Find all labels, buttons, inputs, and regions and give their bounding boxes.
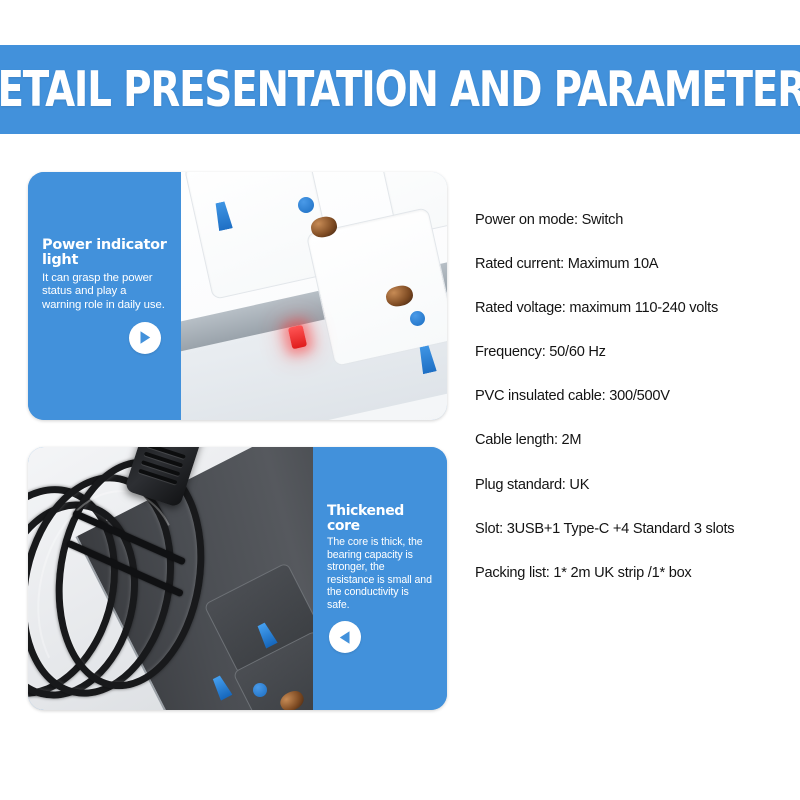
spec-plug-standard: Plug standard: UK	[475, 477, 793, 495]
spec-frequency: Frequency: 50/60 Hz	[475, 344, 793, 362]
spec-cable-length: Cable length: 2M	[475, 432, 793, 450]
page-title: DETAIL PRESENTATION AND PARAMETERS	[0, 61, 800, 117]
spec-packing-list: Packing list: 1* 2m UK strip /1* box	[475, 565, 793, 583]
feature-card-thickened-core[interactable]: Thickened core The core is thick, the be…	[28, 447, 447, 710]
spec-rated-current: Rated current: Maximum 10A	[475, 256, 793, 274]
feature-title: Thickened core	[327, 504, 433, 534]
spec-slot: Slot: 3USB+1 Type-C +4 Standard 3 slots	[475, 521, 793, 539]
feature-panel-power-indicator-light: Power indicator light It can grasp the p…	[28, 172, 181, 420]
feature-description: The core is thick, the bearing capacity …	[327, 536, 433, 611]
play-right-icon[interactable]	[129, 322, 161, 354]
feature-card-power-indicator-light[interactable]: Power indicator light It can grasp the p…	[28, 172, 447, 420]
feature-panel-thickened-core: Thickened core The core is thick, the be…	[313, 447, 447, 710]
spec-pvc-cable: PVC insulated cable: 300/500V	[475, 388, 793, 406]
play-left-icon-glyph	[338, 630, 352, 645]
socket-pinhole	[298, 197, 314, 213]
spec-rated-voltage: Rated voltage: maximum 110-240 volts	[475, 300, 793, 318]
feature-title: Power indicator light	[42, 238, 167, 269]
header-band: DETAIL PRESENTATION AND PARAMETERS	[0, 45, 800, 134]
product-photo-power-indicator	[181, 172, 447, 420]
feature-description: It can grasp the power status and play a…	[42, 272, 167, 312]
play-right-icon-glyph	[138, 330, 152, 345]
spec-power-on-mode: Power on mode: Switch	[475, 212, 793, 230]
product-photo-thickened-core	[28, 447, 313, 710]
play-left-icon[interactable]	[329, 621, 361, 653]
specification-list: Power on mode: Switch Rated current: Max…	[475, 212, 793, 582]
socket-pinhole	[410, 311, 425, 326]
